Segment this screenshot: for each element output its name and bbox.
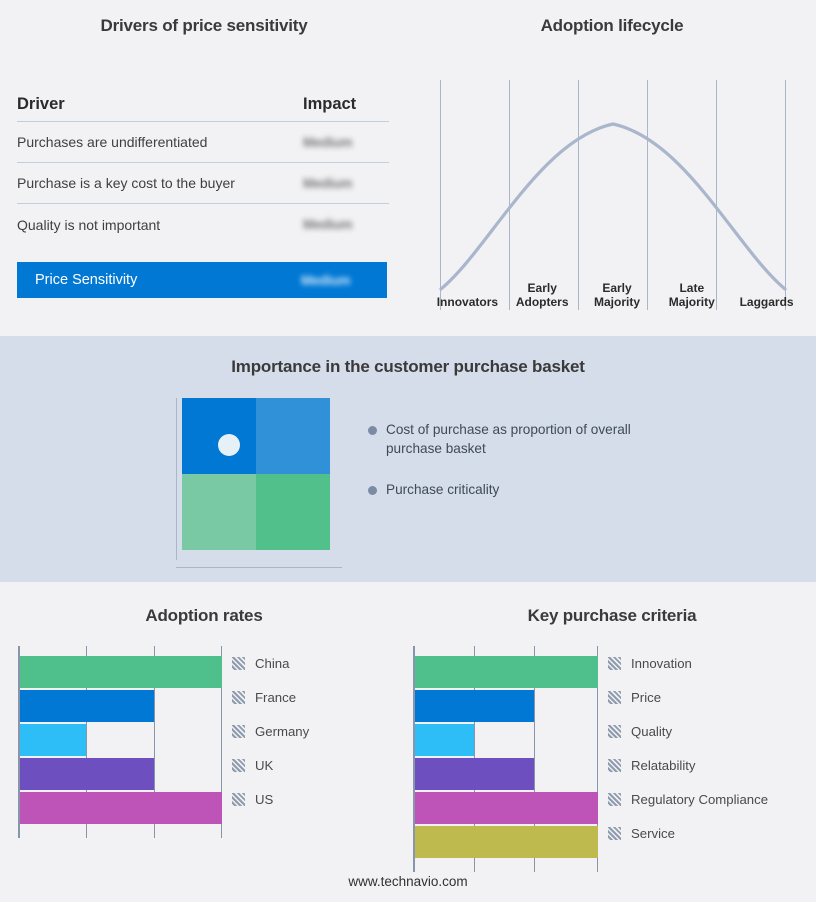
bar (415, 690, 534, 722)
hatched-swatch-icon (232, 793, 245, 806)
hatched-swatch-icon (608, 759, 621, 772)
legend-item: Quality (608, 714, 768, 748)
bar-rows (20, 656, 222, 824)
table-row: Purchase is a key cost to the buyer Medi… (17, 163, 389, 204)
bar-row-quality (415, 724, 598, 756)
stage-line2: Laggards (740, 295, 794, 309)
lifecycle-stage-early-adopters: Early Adopters (505, 272, 580, 312)
bar (20, 758, 154, 790)
bar (415, 792, 598, 824)
plot-area (18, 646, 222, 838)
legend-label: Service (631, 826, 675, 841)
hatched-swatch-icon (232, 759, 245, 772)
legend-label: France (255, 690, 296, 705)
drivers-panel-title: Drivers of price sensitivity (0, 16, 408, 36)
legend-label: Germany (255, 724, 309, 739)
bullet-icon (368, 486, 377, 495)
lifecycle-stage-late-majority: Late Majority (654, 272, 729, 312)
price-sensitivity-summary-row: Price Sensitivity Medium (17, 262, 387, 298)
legend-label: China (255, 656, 289, 671)
matrix-quadrant-grid (182, 398, 330, 550)
legend-label: Relatability (631, 758, 696, 773)
key-purchase-criteria-panel: Key purchase criteria (408, 582, 816, 902)
bar-row-germany (20, 724, 222, 756)
key-purchase-criteria-legend: Innovation Price Quality Relatability Re… (608, 646, 768, 850)
legend-item: Relatability (608, 748, 768, 782)
hatched-swatch-icon (232, 725, 245, 738)
bar (20, 792, 222, 824)
bar (415, 758, 534, 790)
impact-value: Medium (301, 217, 389, 232)
adoption-rates-panel: Adoption rates (0, 582, 408, 872)
matrix-y-axis (176, 398, 177, 560)
legend-label: Quality (631, 724, 672, 739)
lifecycle-stage-laggards: Laggards (729, 272, 804, 312)
bar (415, 724, 474, 756)
bar (415, 656, 598, 688)
legend-label: US (255, 792, 273, 807)
legend-item: Cost of purchase as proportion of overal… (368, 420, 668, 458)
bar-rows (415, 656, 598, 858)
matrix-x-axis (176, 567, 342, 568)
hatched-swatch-icon (608, 657, 621, 670)
adoption-lifecycle-panel: Adoption lifecycle Innovators (408, 0, 816, 336)
hatched-swatch-icon (608, 793, 621, 806)
footer-url: www.technavio.com (0, 874, 816, 889)
table-header-row: Driver Impact (17, 88, 389, 122)
plot-bottom-padding (415, 860, 598, 872)
legend-item: US (232, 782, 309, 816)
bar-row-relatability (415, 758, 598, 790)
lifecycle-stage-labels: Innovators Early Adopters Early Majority… (430, 272, 804, 312)
drivers-table: Driver Impact Purchases are undifferenti… (17, 88, 389, 298)
hatched-swatch-icon (232, 657, 245, 670)
legend-item: France (232, 680, 309, 714)
stage-line2: Majority (669, 295, 715, 309)
plot-bottom-padding (20, 826, 222, 838)
column-header-driver: Driver (17, 95, 301, 114)
summary-impact-value: Medium (299, 273, 387, 288)
adoption-rates-bar-chart (18, 646, 222, 838)
plot-top-padding (415, 646, 598, 656)
hatched-swatch-icon (608, 827, 621, 840)
stage-line2: Majority (594, 295, 640, 309)
legend-item: Purchase criticality (368, 480, 668, 499)
purchase-basket-panel: Importance in the customer purchase bask… (0, 336, 816, 582)
plot-top-padding (20, 646, 222, 656)
basket-legend: Cost of purchase as proportion of overal… (368, 420, 668, 521)
stage-line1: Late (679, 281, 704, 295)
lifecycle-stage-innovators: Innovators (430, 272, 505, 312)
stage-line2: Adopters (516, 295, 569, 309)
top-band: Drivers of price sensitivity Driver Impa… (0, 0, 816, 336)
legend-label: UK (255, 758, 273, 773)
matrix-position-marker (218, 434, 240, 456)
summary-label: Price Sensitivity (35, 272, 299, 288)
bar-row-uk (20, 758, 222, 790)
table-row: Purchases are undifferentiated Medium (17, 122, 389, 163)
bar-row-innovation (415, 656, 598, 688)
drivers-of-price-sensitivity-panel: Drivers of price sensitivity Driver Impa… (0, 0, 408, 336)
legend-item: Price (608, 680, 768, 714)
bar-row-price (415, 690, 598, 722)
hatched-swatch-icon (232, 691, 245, 704)
matrix-quadrant-top-right (256, 398, 330, 474)
adoption-rates-title: Adoption rates (0, 606, 408, 626)
key-purchase-criteria-bar-chart (413, 646, 598, 872)
bar-row-service (415, 826, 598, 858)
bar (20, 724, 86, 756)
legend-item: Regulatory Compliance (608, 782, 768, 816)
bar-row-china (20, 656, 222, 688)
legend-item: China (232, 646, 309, 680)
hatched-swatch-icon (608, 691, 621, 704)
bell-curve-path (441, 124, 785, 289)
hatched-swatch-icon (608, 725, 621, 738)
legend-item: UK (232, 748, 309, 782)
bar-row-us (20, 792, 222, 824)
legend-item: Germany (232, 714, 309, 748)
matrix-quadrant-top-left (182, 398, 256, 474)
purchase-basket-matrix (176, 398, 346, 568)
lifecycle-stage-early-majority: Early Majority (580, 272, 655, 312)
bar-row-france (20, 690, 222, 722)
legend-label: Price (631, 690, 661, 705)
impact-value: Medium (301, 135, 389, 150)
bullet-icon (368, 426, 377, 435)
stage-line1: Early (602, 281, 631, 295)
stage-line1: Early (528, 281, 557, 295)
driver-label: Purchase is a key cost to the buyer (17, 175, 301, 191)
matrix-quadrant-bottom-left (182, 474, 256, 550)
legend-item: Service (608, 816, 768, 850)
plot-area (413, 646, 598, 872)
legend-label: Cost of purchase as proportion of overal… (386, 420, 644, 458)
adoption-rates-legend: China France Germany UK US (232, 646, 309, 816)
lifecycle-panel-title: Adoption lifecycle (408, 16, 816, 36)
legend-label: Purchase criticality (386, 480, 499, 499)
driver-label: Quality is not important (17, 217, 301, 233)
driver-label: Purchases are undifferentiated (17, 134, 301, 150)
stage-line2: Innovators (437, 295, 498, 309)
key-purchase-criteria-title: Key purchase criteria (408, 606, 816, 626)
legend-label: Regulatory Compliance (631, 792, 768, 807)
bar-row-regulatory-compliance (415, 792, 598, 824)
legend-item: Innovation (608, 646, 768, 680)
bar (20, 690, 154, 722)
table-row: Quality is not important Medium (17, 204, 389, 245)
legend-label: Innovation (631, 656, 692, 671)
impact-value: Medium (301, 176, 389, 191)
column-header-impact: Impact (301, 95, 389, 114)
bar (20, 656, 222, 688)
bar (415, 826, 598, 858)
basket-panel-title: Importance in the customer purchase bask… (0, 357, 816, 377)
matrix-quadrant-bottom-right (256, 474, 330, 550)
